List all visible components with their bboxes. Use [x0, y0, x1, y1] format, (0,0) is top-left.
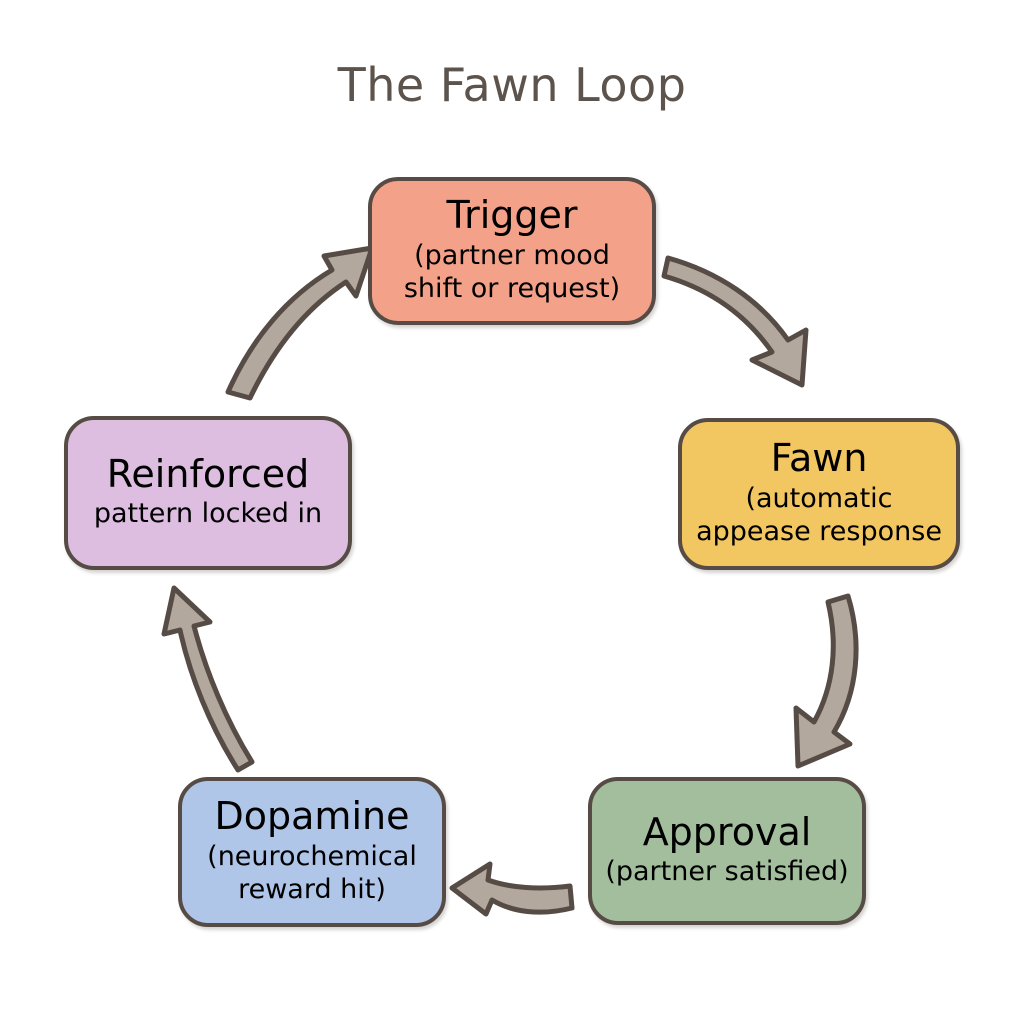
- node-fawn-title: Fawn: [771, 439, 868, 479]
- diagram-canvas: The Fawn Loop Trigger (partner mood shif…: [0, 0, 1024, 1024]
- node-approval-title: Approval: [643, 813, 812, 853]
- node-trigger-title: Trigger: [446, 196, 577, 236]
- node-reinforced[interactable]: Reinforced pattern locked in: [64, 416, 352, 570]
- arrow-approval-to-dopamine: [452, 864, 572, 914]
- node-dopamine-subtitle-line1: (neurochemical: [207, 841, 417, 874]
- node-reinforced-subtitle-line1: pattern locked in: [94, 498, 322, 531]
- node-trigger-subtitle-line1: (partner mood: [414, 240, 610, 273]
- node-dopamine[interactable]: Dopamine (neurochemical reward hit): [178, 777, 446, 927]
- node-fawn-subtitle-line2: appease response: [696, 516, 942, 549]
- arrow-dopamine-to-reinforced: [164, 588, 252, 770]
- node-reinforced-title: Reinforced: [107, 455, 310, 495]
- node-approval[interactable]: Approval (partner satisfied): [588, 777, 866, 925]
- node-fawn[interactable]: Fawn (automatic appease response: [678, 418, 960, 570]
- arrow-trigger-to-fawn: [664, 258, 806, 385]
- arrow-fawn-to-approval: [796, 596, 856, 766]
- node-trigger[interactable]: Trigger (partner mood shift or request): [368, 177, 656, 325]
- node-dopamine-subtitle-line2: reward hit): [238, 874, 386, 907]
- arrow-reinforced-to-trigger: [228, 248, 372, 398]
- node-trigger-subtitle-line2: shift or request): [404, 273, 620, 306]
- node-dopamine-title: Dopamine: [215, 797, 410, 837]
- node-fawn-subtitle-line1: (automatic: [745, 483, 892, 516]
- node-approval-subtitle-line1: (partner satisfied): [605, 856, 848, 889]
